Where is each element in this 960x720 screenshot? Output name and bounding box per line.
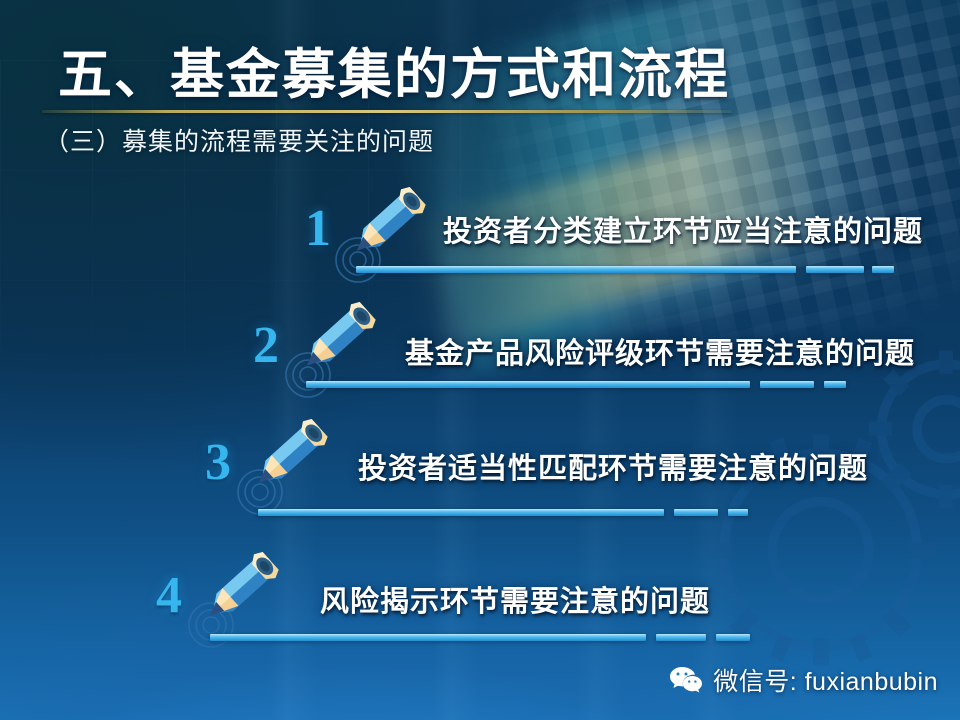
presentation-slide: 五、基金募集的方式和流程 （三）募集的流程需要关注的问题 1 xyxy=(0,0,960,720)
list-item-number: 1 xyxy=(305,203,331,255)
title-divider xyxy=(42,110,732,113)
list-item-label: 投资者分类建立环节应当注意的问题 xyxy=(443,208,923,250)
page-subtitle: （三）募集的流程需要关注的问题 xyxy=(44,122,434,158)
list-item-number: 4 xyxy=(156,570,182,622)
list-item-label: 基金产品风险评级环节需要注意的问题 xyxy=(405,330,915,372)
list-item-underline xyxy=(210,634,646,641)
list-item-underline-dash xyxy=(716,634,750,641)
wechat-icon xyxy=(669,665,703,695)
list-item-underline-dash xyxy=(656,634,706,641)
pencil-icon xyxy=(183,541,287,645)
pencil-icon xyxy=(280,291,384,395)
list-item-underline xyxy=(356,266,796,273)
pencil-icon xyxy=(330,176,434,280)
list-item-number: 3 xyxy=(205,437,231,489)
list-item-underline xyxy=(258,509,664,516)
list-item-number: 2 xyxy=(253,320,279,372)
page-title: 五、基金募集的方式和流程 xyxy=(58,30,730,109)
list-item-underline-dash xyxy=(728,509,748,516)
list-item-underline-dash xyxy=(872,266,894,273)
footer-text: 微信号: fuxianbubin xyxy=(713,662,938,698)
list-item-underline-dash xyxy=(824,381,846,388)
list-item-label: 投资者适当性匹配环节需要注意的问题 xyxy=(358,445,868,487)
list-item-underline xyxy=(306,381,750,388)
list-item-label: 风险揭示环节需要注意的问题 xyxy=(320,578,710,620)
pencil-icon xyxy=(232,408,336,512)
list-item-underline-dash xyxy=(674,509,718,516)
footer-watermark: 微信号: fuxianbubin xyxy=(669,662,938,698)
list-item-underline-dash xyxy=(760,381,814,388)
list-item-underline-dash xyxy=(806,266,864,273)
